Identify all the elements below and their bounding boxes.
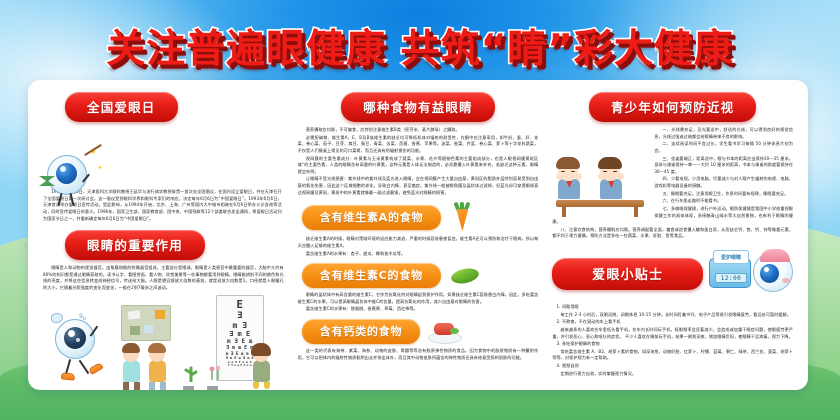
subsection-calcium: 含有钙类的食物 [302, 319, 539, 344]
iris-shape [64, 327, 86, 349]
student-figure [600, 161, 622, 199]
section-header-eye-importance: 眼睛的重要作用 [43, 230, 284, 260]
alarm-clock-icon: 爱护眼睛 12:00 [709, 258, 751, 288]
cap-icon [760, 249, 790, 262]
eye-care-tips-list: 1. 间歇用眼 每工作 2-3 小时后，双眼远眺、闭眼休息 10-15 分钟。长… [552, 304, 793, 377]
clock-time: 12:00 [715, 273, 747, 283]
tip-heading: 2. 不熬夜，不在晃动的车上看手机 [552, 319, 793, 326]
kids-eye-chart-illustration: 9o E Ǝ m Ǝ Ǝ m E m Ǝ E ɯ Ǝ m ɯ E m m Ǝ E… [43, 293, 284, 390]
shoe-icon [88, 362, 104, 375]
section-title-eye-care-tips: 爱眼小贴士 [552, 258, 703, 290]
iris-shape [56, 163, 77, 184]
section-title-eye-importance: 眼睛的重要作用 [65, 230, 205, 260]
iris-shape [760, 264, 779, 283]
eyeball-shape [753, 252, 793, 292]
paragraph: 富含维生素C的水果有：猕猴桃、香蕉果、草莓、西红柿等。 [298, 306, 539, 313]
paragraph: 营养摄取应均衡，不可偏食，应特别注意维生素B类（胚芽米、麦片酵母）之摄取。 [298, 127, 539, 134]
child-figure [149, 346, 166, 390]
eye-importance-body: 眼睛是人和动物的视觉器官。由角膜和眼的附属器官组成，主要部分是眼球。眼睛是人类感… [43, 265, 284, 292]
vitamin-c-body: 眼睛的晶状体中有高含量的维生素C，它作为抗氧化剂对眼睛起到保护作用。如果缺乏维生… [298, 292, 539, 313]
shoe-icon [61, 372, 76, 380]
right-column: 青少年如何预防近视 [545, 90, 800, 384]
paragraph: 视网膜的主要色素成分：叶黄素与玉米黄素构成了蔬菜、水果、花卉等植物色素的主要组成… [298, 156, 539, 176]
cactus-plant [183, 362, 199, 390]
list-item: 八、注意饮食结构，营养摄取应均衡。营养调配要全面，偏食或进食摄入糖和蛋白质，从而… [552, 227, 793, 240]
left-column: 全国爱眼日 ✦ ✦ ✦ 1992年9月25日，天津医科大学眼科教授王延华与流行病… [36, 90, 291, 384]
paragraph: 缺乏维生素A的时候，眼睛对黑暗环境的适应能力减退，严重的时候容易患夜盲症。维生素… [298, 236, 539, 249]
paragraph: 必需胆碱物、维生素A、E、B及B族维生素的缺乏均可降低机体对辐射的耐受性，在酮中… [298, 135, 539, 155]
child-figure [123, 346, 140, 390]
tip-text: 越来越多的人喜欢在车里低头看手机，在车内长时间玩手机，眨眼频率会显著减少，会造成… [552, 327, 793, 340]
section-title-myopia-prevention: 青少年如何预防近视 [589, 92, 756, 122]
content-card: 全国爱眼日 ✦ ✦ ✦ 1992年9月25日，天津医科大学眼科教授王延华与流行病… [28, 80, 808, 390]
tip-heading: 3. 多吃保护眼睛的食物 [552, 341, 793, 348]
clock-bubble-text: 爱护眼睛 [713, 250, 749, 264]
eye-foods-body: 营养摄取应均衡，不可偏食，应特别注意维生素B类（胚芽米、麦片酵母）之摄取。 必需… [298, 127, 539, 196]
paragraph: 眼睛的晶状体中有高含量的维生素C，它作为抗氧化剂对眼睛起到保护作用。如果缺乏维生… [298, 292, 539, 305]
cucumber-icon [449, 265, 481, 287]
section-header-eye-care-tips: 爱眼小贴士 爱护眼睛 12:00 [552, 248, 793, 300]
paragraph: 这一类的代表有海带、紫菜、海参、动物的皮肤、骨髓等等含有胶原弹性物质的食品。因为… [298, 348, 539, 361]
eye-mascot-alarm-clock-icon: 爱护眼睛 12:00 [709, 248, 793, 300]
section-header-national-eye-day: 全国爱眼日 [43, 92, 284, 122]
paragraph: 富含维生素A的水果有：杏子、甜瓜、椰和香木瓜等。 [298, 251, 539, 258]
paragraph: 眼睛是人和动物的视觉器官。由角膜和眼的附属器官组成，主要部分是眼球。眼睛是人类感… [43, 265, 284, 292]
section-header-myopia-prevention: 青少年如何预防近视 [552, 92, 793, 122]
poster-title: 关注普遍眼健康 共筑“睛”彩大健康 [106, 18, 734, 74]
section-title-national-eye-day: 全国爱眼日 [65, 92, 178, 122]
student-figure [558, 161, 580, 199]
desk-shape [556, 200, 644, 207]
subsection-title-vitamin-a: 含有维生素A的食物 [302, 205, 442, 230]
subsection-vitamin-a: 含有维生素A的食物 [302, 202, 539, 232]
subsection-title-calcium: 含有钙类的食物 [302, 319, 421, 344]
poster-title-area: 关注普遍眼健康 共筑“睛”彩大健康 [0, 18, 840, 74]
section-header-eye-foods: 哪种食物有益眼睛 [298, 92, 539, 122]
eye-mascot-running-icon: 9o [49, 311, 109, 390]
tip-text: 每工作 2-3 小时后，双眼远眺、闭眼休息 10-15 分钟。长时间盯着书刊、电… [552, 312, 793, 319]
tip-heading: 1. 间歇用眼 [552, 304, 793, 311]
middle-column: 哪种食物有益眼睛 营养摄取应均衡，不可偏食，应特别注意维生素B类（胚芽米、麦片酵… [291, 90, 546, 384]
teacher-figure [253, 346, 270, 390]
tip-heading: 4. 视频自测 [552, 363, 793, 370]
carrot-icon [449, 202, 475, 232]
eye-highlight [51, 313, 63, 323]
wall-poster [121, 305, 171, 341]
subsection-vitamin-c: 含有维生素C的食物 [302, 263, 539, 288]
subsection-title-vitamin-c: 含有维生素C的食物 [302, 263, 441, 288]
calcium-body: 这一类的代表有海带、紫菜、海参、动物的皮肤、骨髓等等含有胶原弹性物质的食品。因为… [298, 348, 539, 361]
section-title-eye-foods: 哪种食物有益眼睛 [341, 92, 495, 122]
students-eye-exercises-illustration [552, 131, 648, 217]
meat-plate-icon [428, 320, 462, 344]
paragraph: 让眼睛不受光线损害：紫外线中的紫外线及蓝光进入眼睛，会在视网膜产生大量自由基，黄… [298, 176, 539, 196]
tip-text: 常吃富含维生素 A、B2、胡萝卜素的食物，如深海鱼、动物肝脏、红萝卜、柠檬、蓝莓… [552, 349, 793, 362]
flower-plant [207, 364, 223, 390]
eye-mascot-with-pointer-icon: ✦ ✦ ✦ [39, 149, 101, 211]
tip-text: 定期进行视力自测，实时掌握视力情况。 [552, 371, 793, 378]
vitamin-a-body: 缺乏维生素A的时候，眼睛对黑暗环境的适应能力减退，严重的时候容易患夜盲症。维生素… [298, 236, 539, 257]
